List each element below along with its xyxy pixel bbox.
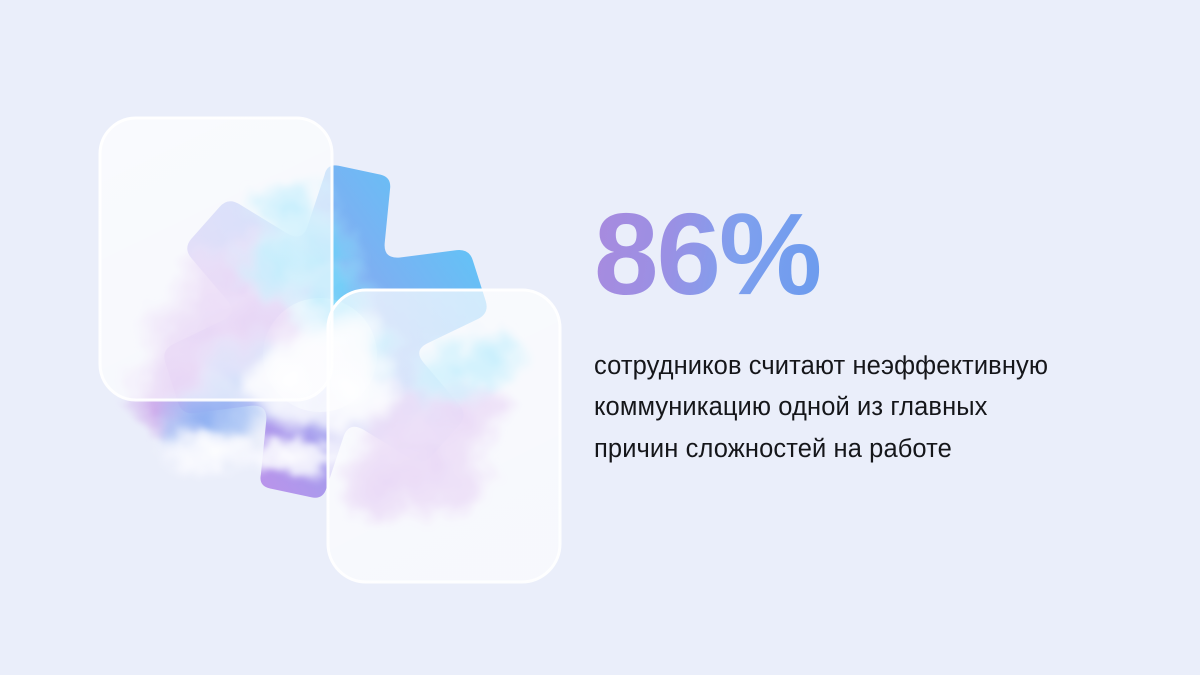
- stat-value: 86%: [594, 196, 820, 312]
- illustration-svg: [60, 60, 600, 620]
- stat-description-line-1: сотрудников считают неэффективную: [594, 346, 1124, 387]
- slide-root: 86% сотрудников считают неэффективную ко…: [0, 0, 1200, 675]
- hero-illustration: [60, 60, 600, 620]
- glass-card-front: [328, 290, 560, 582]
- stat-description: сотрудников считают неэффективную коммун…: [594, 346, 1124, 470]
- stat-description-line-2: коммуникацию одной из главных: [594, 387, 1124, 428]
- glass-card-back: [100, 118, 332, 400]
- stat-text-block: 86% сотрудников считают неэффективную ко…: [594, 196, 1124, 470]
- stat-description-line-3: причин сложностей на работе: [594, 429, 1124, 470]
